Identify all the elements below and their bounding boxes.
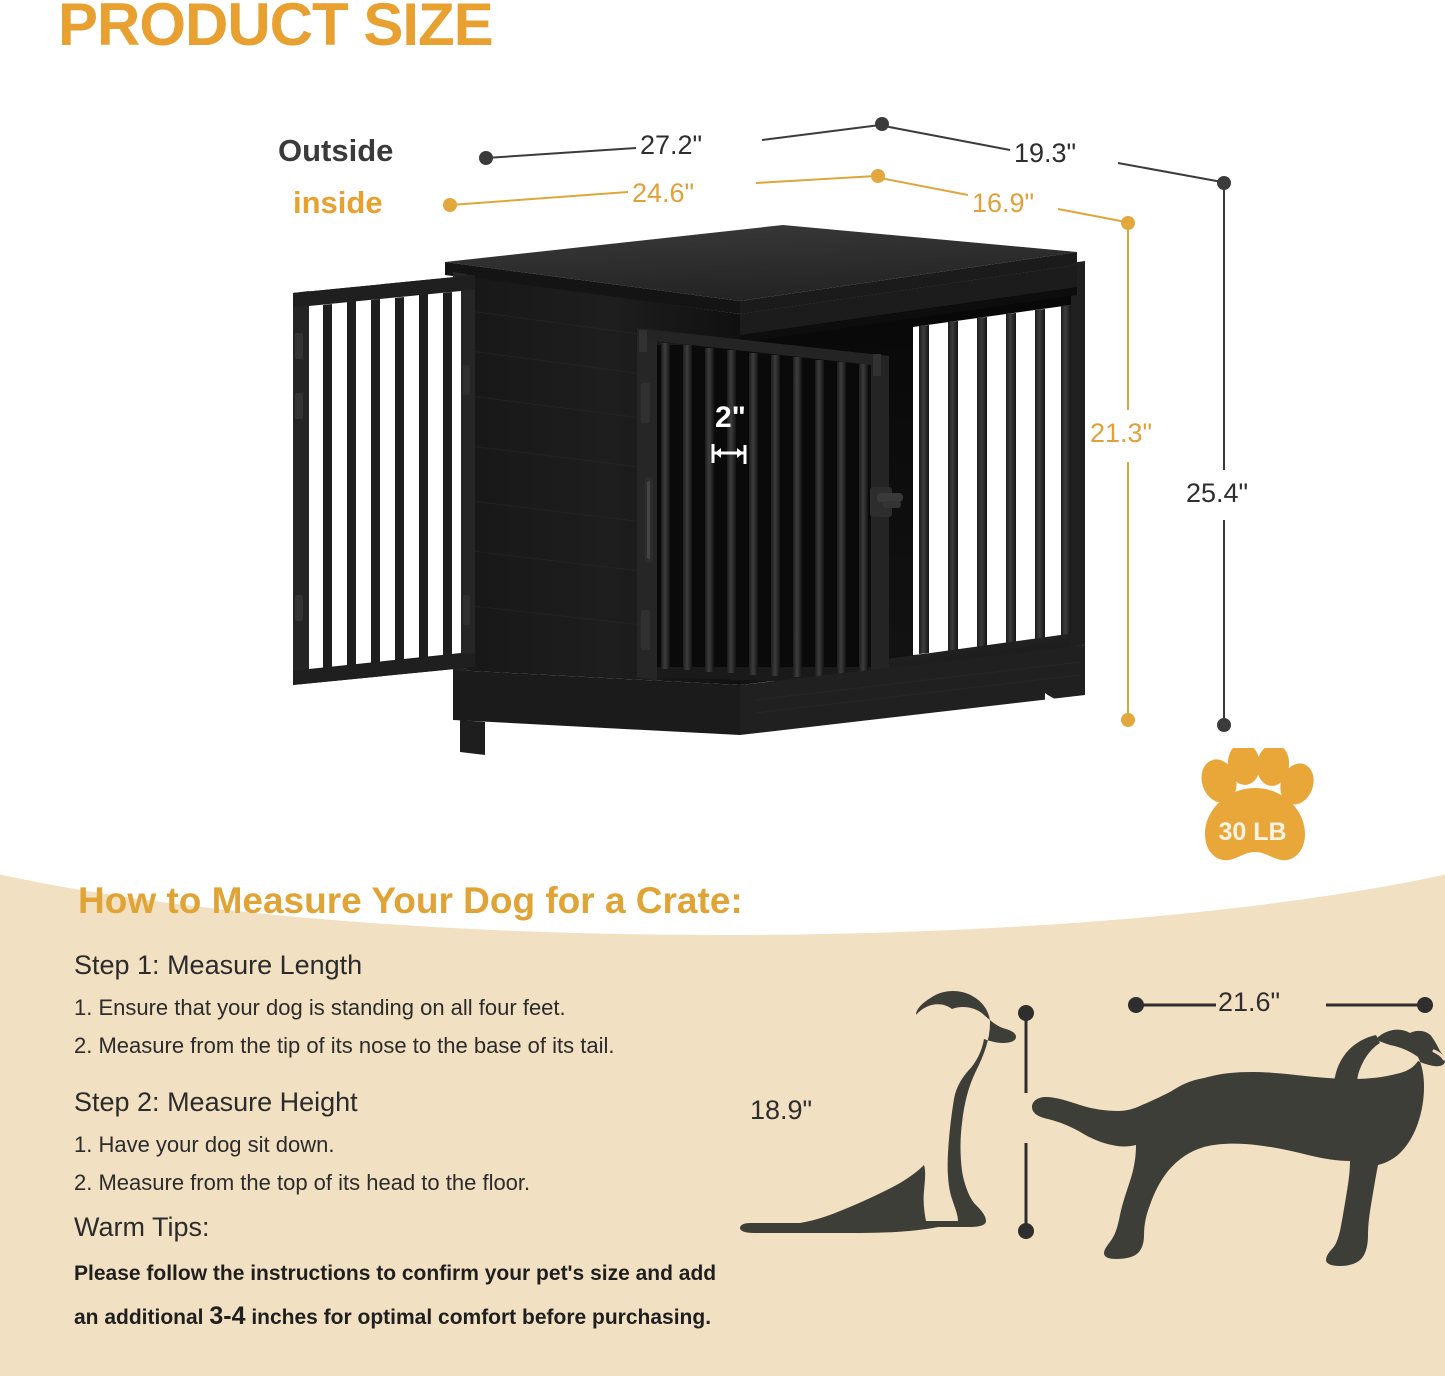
warm-tips-line-2-suffix: inches for optimal comfort before purcha… bbox=[245, 1306, 711, 1329]
dim-outside-depth: 19.3" bbox=[1014, 138, 1076, 169]
paw-print-icon bbox=[1185, 748, 1320, 873]
warm-tips-line-1: Please follow the instructions to confir… bbox=[74, 1262, 716, 1286]
dim-inside-depth: 16.9" bbox=[972, 188, 1034, 219]
weight-paw-badge: 30 LB bbox=[1185, 748, 1320, 873]
warm-tips-line-2: an additional 3-4 inches for optimal com… bbox=[74, 1302, 711, 1331]
step1-line-1: 1. Ensure that your dog is standing on a… bbox=[74, 995, 566, 1021]
infographic-stage: PRODUCT SIZE Outside inside bbox=[0, 0, 1445, 1376]
step2-line-1: 1. Have your dog sit down. bbox=[74, 1132, 334, 1158]
dim-inside-width: 24.6" bbox=[632, 178, 694, 209]
svg-text:2": 2" bbox=[715, 401, 746, 434]
dog-measurement-diagram: 18.9" 21.6" bbox=[740, 975, 1445, 1275]
how-to-measure-heading: How to Measure Your Dog for a Crate: bbox=[78, 880, 743, 922]
warm-tips-heading: Warm Tips: bbox=[74, 1212, 210, 1243]
step1-heading: Step 1: Measure Length bbox=[74, 950, 362, 981]
crate-right-side-bars bbox=[913, 305, 1071, 655]
step1-line-2: 2. Measure from the tip of its nose to t… bbox=[74, 1033, 615, 1059]
weight-badge-label: 30 LB bbox=[1185, 818, 1320, 847]
dog-length-dimension bbox=[1128, 997, 1433, 1013]
warm-tips-line-2-prefix: an additional bbox=[74, 1306, 209, 1329]
dog-height-label: 18.9" bbox=[750, 1095, 812, 1126]
crate-right-post bbox=[1071, 261, 1085, 647]
step2-heading: Step 2: Measure Height bbox=[74, 1087, 358, 1118]
standing-dog-silhouette bbox=[1032, 1030, 1445, 1266]
dim-inside-height: 21.3" bbox=[1090, 418, 1152, 449]
dim-outside-height: 25.4" bbox=[1186, 478, 1248, 509]
step2-line-2: 2. Measure from the top of its head to t… bbox=[74, 1170, 530, 1196]
crate-hinge-upper bbox=[463, 365, 470, 395]
legend-outside-label: Outside bbox=[278, 133, 393, 169]
door-handle bbox=[645, 477, 653, 563]
dog-height-dimension bbox=[1018, 1005, 1034, 1239]
dog-length-label: 21.6" bbox=[1218, 987, 1280, 1018]
crate-hinge-lower bbox=[463, 595, 470, 625]
dog-crate-illustration: 2" bbox=[285, 215, 1085, 760]
crate-sliding-door bbox=[637, 331, 903, 685]
crate-open-door bbox=[293, 275, 475, 685]
warm-tips-inches-value: 3-4 bbox=[209, 1302, 245, 1330]
page-title: PRODUCT SIZE bbox=[58, 0, 493, 59]
dim-outside-width: 27.2" bbox=[640, 130, 702, 161]
